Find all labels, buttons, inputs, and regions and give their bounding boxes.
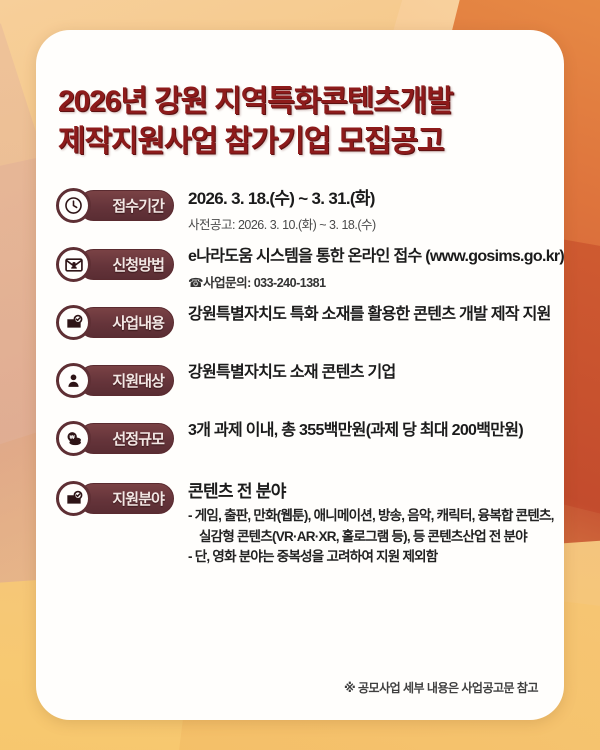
badge-target: 지원대상 <box>56 365 174 399</box>
envelope-person-icon <box>56 247 91 282</box>
badge-pill: 접수기간 <box>78 190 174 221</box>
title-line-2: 제작지원사업 참가기업 모집공고 <box>58 122 540 162</box>
period-value: 2026. 3. 18.(수) ~ 3. 31.(화) <box>188 188 546 209</box>
clock-icon <box>56 188 91 223</box>
info-row-program-content: 사업내용 강원특별자치도 특화 소재를 활용한 콘텐츠 개발 제작 지원 <box>56 305 546 341</box>
badge-label: 선정규모 <box>112 428 164 449</box>
support-field-value: 콘텐츠 전 분야 <box>188 481 554 502</box>
info-row-body: 콘텐츠 전 분야 - 게임, 출판, 만화(웹툰), 애니메이션, 방송, 음악… <box>174 481 554 567</box>
info-row-body: 강원특별자치도 특화 소재를 활용한 콘텐츠 개발 제작 지원 <box>174 305 551 325</box>
badge-period: 접수기간 <box>56 190 174 224</box>
badge-scale: ₩ 선정규모 <box>56 423 174 457</box>
target-value: 강원특별자치도 소재 콘텐츠 기업 <box>188 363 546 383</box>
badge-pill: 지원대상 <box>78 365 174 396</box>
info-row-apply-method: 신청방법 e나라도움 시스템을 통한 온라인 접수 (www.gosims.go… <box>56 247 546 291</box>
badge-pill: 선정규모 <box>78 423 174 454</box>
apply-contact: ☎사업문의: 033-240-1381 <box>188 272 564 291</box>
person-icon <box>56 363 91 398</box>
info-row-body: 3개 과제 이내, 총 355백만원(과제 당 최대 200백만원) <box>174 421 546 441</box>
coins-won-icon: ₩ <box>56 421 91 456</box>
document-check-icon <box>56 481 91 516</box>
info-rows: 접수기간 2026. 3. 18.(수) ~ 3. 31.(화) 사전공고: 2… <box>36 188 564 567</box>
list-item: - 단, 영화 분야는 중복성을 고려하여 지원 제외함 <box>188 547 554 567</box>
footer-note: ※ 공모사업 세부 내용은 사업공고문 참고 <box>344 679 538 696</box>
badge-label: 지원대상 <box>112 370 164 391</box>
info-row-body: e나라도움 시스템을 통한 온라인 접수 (www.gosims.go.kr) … <box>174 247 564 291</box>
badge-label: 신청방법 <box>112 254 164 275</box>
support-field-list: - 게임, 출판, 만화(웹툰), 애니메이션, 방송, 음악, 캐릭터, 융복… <box>188 506 554 567</box>
list-item: - 게임, 출판, 만화(웹툰), 애니메이션, 방송, 음악, 캐릭터, 융복… <box>188 506 554 526</box>
page-title: 2026년 강원 지역특화콘텐츠개발 제작지원사업 참가기업 모집공고 <box>36 82 564 162</box>
info-row-body: 2026. 3. 18.(수) ~ 3. 31.(화) 사전공고: 2026. … <box>174 188 546 233</box>
info-row-scale: ₩ 선정규모 3개 과제 이내, 총 355백만원(과제 당 최대 200백만원… <box>56 421 546 457</box>
badge-pill: 신청방법 <box>78 249 174 280</box>
document-check-icon <box>56 305 91 340</box>
badge-label: 접수기간 <box>112 195 164 216</box>
period-prenotice: 사전공고: 2026. 3. 10.(화) ~ 3. 18.(수) <box>188 214 546 233</box>
info-row-period: 접수기간 2026. 3. 18.(수) ~ 3. 31.(화) 사전공고: 2… <box>56 188 546 233</box>
scale-value: 3개 과제 이내, 총 355백만원(과제 당 최대 200백만원) <box>188 421 546 441</box>
badge-pill: 지원분야 <box>78 483 174 514</box>
badge-support-field: 지원분야 <box>56 483 174 517</box>
badge-apply-method: 신청방법 <box>56 249 174 283</box>
badge-program-content: 사업내용 <box>56 307 174 341</box>
program-content-value: 강원특별자치도 특화 소재를 활용한 콘텐츠 개발 제작 지원 <box>188 305 551 325</box>
title-line-1: 2026년 강원 지역특화콘텐츠개발 <box>58 82 540 122</box>
badge-label: 사업내용 <box>112 312 164 333</box>
info-row-body: 강원특별자치도 소재 콘텐츠 기업 <box>174 363 546 383</box>
poster-background: 2026년 강원 지역특화콘텐츠개발 제작지원사업 참가기업 모집공고 접수기간 <box>0 0 600 750</box>
badge-label: 지원분야 <box>112 488 164 509</box>
apply-method-value: e나라도움 시스템을 통한 온라인 접수 (www.gosims.go.kr) <box>188 247 564 267</box>
list-item: 실감형 콘텐츠(VR·AR·XR, 홀로그램 등), 등 콘텐츠산업 전 분야 <box>188 527 554 547</box>
announcement-card: 2026년 강원 지역특화콘텐츠개발 제작지원사업 참가기업 모집공고 접수기간 <box>36 30 564 720</box>
info-row-support-field: 지원분야 콘텐츠 전 분야 - 게임, 출판, 만화(웹툰), 애니메이션, 방… <box>56 481 546 567</box>
info-row-target: 지원대상 강원특별자치도 소재 콘텐츠 기업 <box>56 363 546 399</box>
badge-pill: 사업내용 <box>78 307 174 338</box>
